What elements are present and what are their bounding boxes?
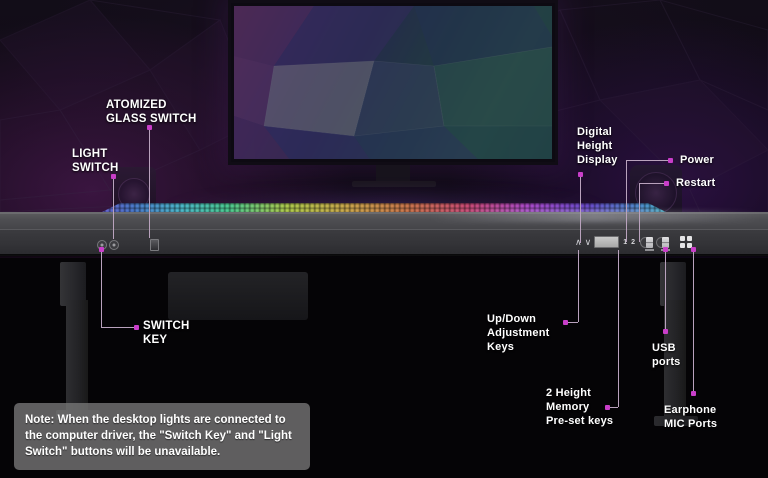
leader-dot-switch-key-anchor — [99, 247, 104, 252]
callout-label-atomized-glass-switch: ATOMIZED GLASS SWITCH — [106, 99, 197, 126]
leader-dot-earphone-mic-ports — [691, 391, 696, 396]
callout-label-digital-height-display: Digital Height Display — [577, 125, 618, 167]
memory-key-2[interactable]: 2 — [631, 239, 635, 246]
digital-height-display — [594, 236, 619, 248]
callout-label-usb-ports: USB ports — [652, 341, 681, 369]
leader-dot-switch-key — [134, 325, 139, 330]
note-box: Note: When the desktop lights are connec… — [14, 403, 310, 470]
cable-management-tray — [168, 272, 308, 320]
leader-line-power-vertical — [626, 160, 627, 242]
desk-surface-highlight — [430, 210, 760, 222]
leader-dot-digital-height-display — [578, 172, 583, 177]
note-text: Note: When the desktop lights are connec… — [25, 412, 299, 460]
mic-jack-icon[interactable] — [662, 237, 669, 248]
leader-line-restart-horizontal — [639, 183, 666, 184]
earphone-jack-icon[interactable] — [646, 237, 653, 248]
leader-line-earphone-mic-ports — [693, 250, 694, 392]
switch-key-button[interactable] — [150, 239, 159, 251]
usb-port-cluster-icon[interactable] — [680, 236, 692, 248]
callout-label-restart: Restart — [676, 176, 715, 190]
leader-dot-restart — [664, 181, 669, 186]
monitor — [228, 0, 558, 165]
down-arrow-icon[interactable]: ∨ — [585, 238, 592, 247]
leader-line-restart-vertical — [639, 183, 640, 242]
leader-line-digital-height-display — [580, 175, 581, 243]
monitor-screen — [234, 6, 552, 159]
leader-line-atomized-glass-switch — [149, 128, 150, 238]
callout-label-up-down-adjustment-keys: Up/Down Adjustment Keys — [487, 312, 550, 354]
callout-label-light-switch: LIGHT SWITCH — [72, 148, 119, 175]
io-port-panel — [646, 236, 692, 248]
leader-line-usb-ports — [665, 250, 666, 330]
leader-dot-usb-ports-anchor — [663, 247, 668, 252]
callout-label-height-memory-preset-keys: 2 Height Memory Pre-set keys — [546, 386, 613, 428]
desk-feature-diagram: ∧ ∨ 1 2 ATOMIZED GLASS SWITCH LIGHT SWIT… — [0, 0, 768, 478]
leader-line-light-switch — [113, 177, 114, 239]
leader-line-switch-key-horizontal — [101, 327, 136, 328]
leader-line-switch-key-vertical — [101, 250, 102, 328]
callout-label-power: Power — [680, 153, 714, 167]
leader-dot-usb-ports — [663, 329, 668, 334]
screen-wallpaper-polygons — [234, 6, 552, 159]
desk-leg-left — [66, 300, 88, 412]
callout-label-switch-key: SWITCH KEY — [143, 320, 190, 347]
leader-dot-power — [668, 158, 673, 163]
leader-line-power-horizontal — [626, 160, 670, 161]
leader-line-memory-vertical — [618, 250, 619, 407]
leader-dot-updown-keys — [563, 320, 568, 325]
atomized-glass-switch-button[interactable] — [109, 240, 119, 250]
callout-label-earphone-mic-ports: Earphone MIC Ports — [664, 403, 717, 431]
leader-line-updown-vertical — [578, 250, 579, 322]
leader-dot-earphone-mic-anchor — [691, 247, 696, 252]
